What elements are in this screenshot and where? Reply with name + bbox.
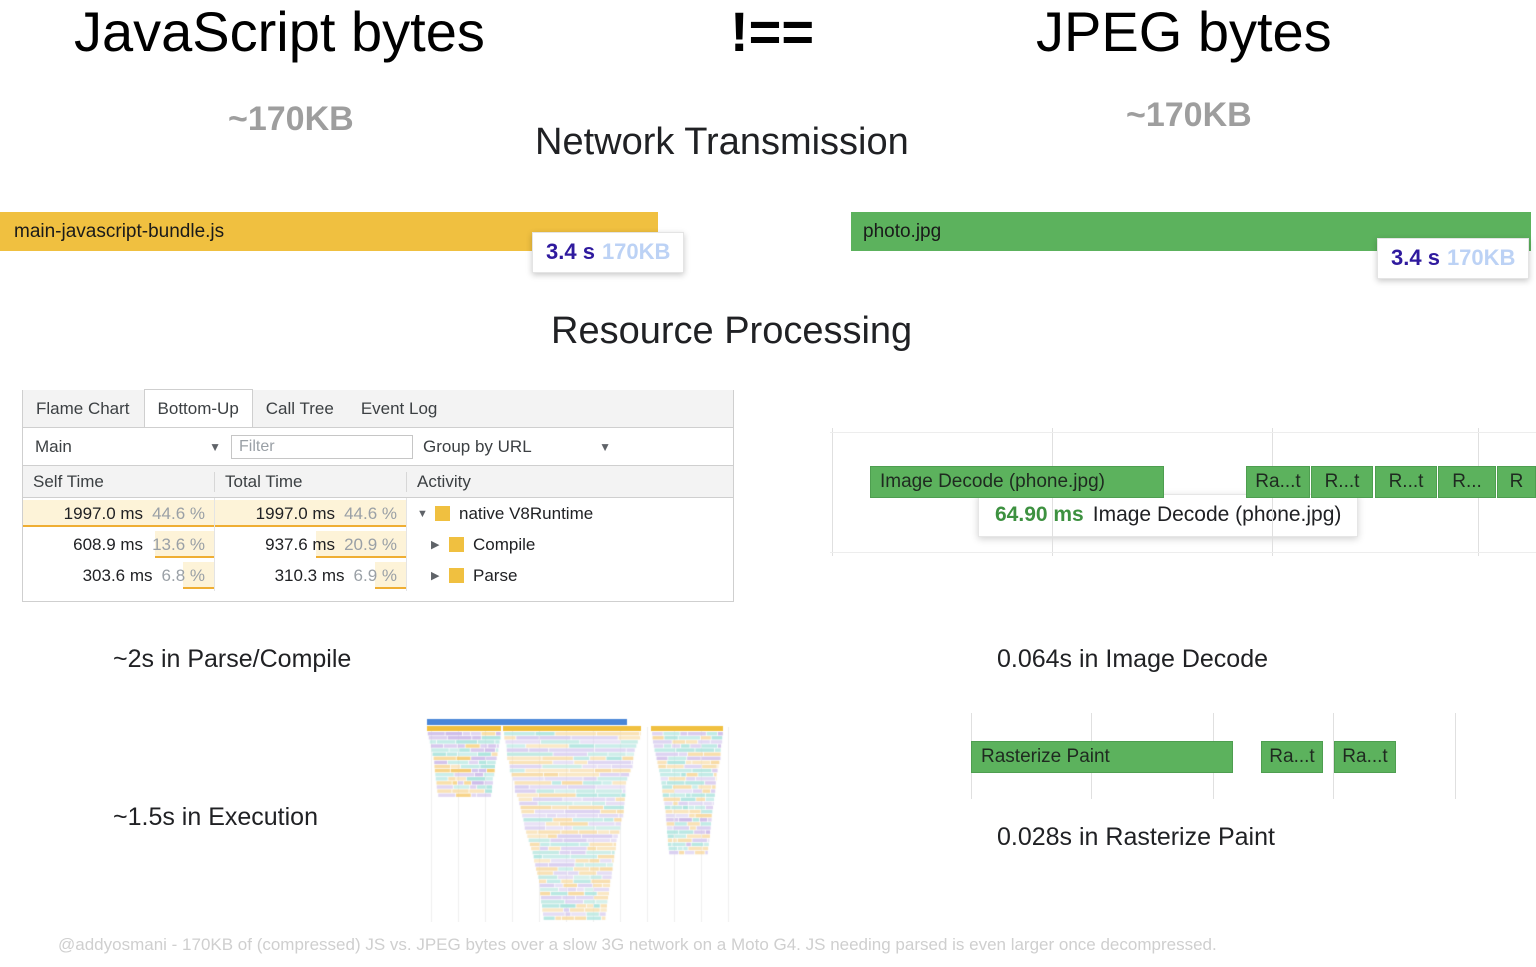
network-bar-javascript-label: main-javascript-bundle.js (14, 221, 224, 243)
color-swatch-icon (449, 537, 464, 552)
network-tooltip-javascript: 3.4 s170KB (532, 232, 684, 273)
devtools-tab-label: Flame Chart (36, 399, 130, 419)
network-tooltip-jpeg: 3.4 s170KB (1377, 238, 1529, 279)
timeline-gridline (1455, 713, 1456, 799)
timeline-bar[interactable]: R (1497, 466, 1536, 498)
network-bar-jpeg-label: photo.jpg (863, 221, 941, 243)
headline-right-text: JPEG bytes (1036, 0, 1332, 64)
devtools-column-headers: Self Time Total Time Activity (23, 466, 733, 498)
cell-total-time: 1997.0 ms44.6 % (215, 498, 407, 529)
footer-caption: @addyosmani - 170KB of (compressed) JS v… (58, 935, 1217, 955)
timeline-image-decode: 64.90 msImage Decode (phone.jpg) Image D… (830, 428, 1536, 556)
cell-total-time: 310.3 ms6.9 % (215, 560, 407, 591)
cell-activity: ▶Compile (407, 535, 733, 555)
timeline-bar[interactable]: R...t (1311, 466, 1373, 498)
filter-input-placeholder: Filter (239, 438, 275, 456)
chevron-right-icon[interactable]: ▶ (431, 538, 447, 551)
timeline-gridline (832, 428, 833, 556)
timeline-bar-label: R...t (1389, 471, 1424, 493)
devtools-tab-bottom-up[interactable]: Bottom-Up (144, 389, 253, 427)
timeline-horizontal-rule (830, 552, 1536, 553)
timeline-bar-label: Ra...t (1255, 471, 1300, 493)
activity-label: Compile (473, 535, 535, 555)
cell-total-time-percent: 44.6 % (344, 504, 397, 524)
headline-left-text: JavaScript bytes (74, 0, 485, 64)
network-tooltip-jpeg-size: 170KB (1447, 245, 1515, 270)
timeline-horizontal-rule (830, 432, 1536, 433)
chevron-down-icon: ▼ (209, 440, 221, 454)
cell-total-time-ms: 1997.0 ms (256, 504, 335, 524)
network-tooltip-javascript-time: 3.4 s (546, 239, 595, 264)
devtools-tab-label: Bottom-Up (158, 399, 239, 419)
section-heading-network: Network Transmission (535, 121, 909, 164)
devtools-tab-label: Call Tree (266, 399, 334, 419)
network-tooltip-javascript-size: 170KB (602, 239, 670, 264)
timeline-bar-label: Ra...t (1269, 746, 1314, 768)
timeline-rasterize-paint: Rasterize PaintRa...tRa...t (963, 713, 1536, 799)
network-tooltip-jpeg-time: 3.4 s (1391, 245, 1440, 270)
column-header-self-time[interactable]: Self Time (23, 472, 215, 492)
cell-self-time-percent: 6.8 % (162, 566, 205, 586)
timeline-bar-label: R...t (1325, 471, 1360, 493)
cell-self-time: 1997.0 ms44.6 % (23, 498, 215, 529)
cell-self-time-ms: 303.6 ms (83, 566, 153, 586)
flame-chart-canvas (423, 717, 733, 922)
group-by-select-value: Group by URL (423, 437, 532, 457)
timeline-bar-label: Rasterize Paint (981, 746, 1110, 768)
size-label-right: ~170KB (1126, 96, 1252, 135)
chevron-down-icon: ▼ (599, 440, 611, 454)
headline: JavaScript bytes !== JPEG bytes (0, 0, 1536, 68)
table-row[interactable]: 608.9 ms13.6 %937.6 ms20.9 %▶Compile (23, 529, 733, 560)
cell-total-time-ms: 310.3 ms (275, 566, 345, 586)
devtools-rows: 1997.0 ms44.6 %1997.0 ms44.6 %▼native V8… (23, 498, 733, 591)
timeline-bar[interactable]: Image Decode (phone.jpg) (870, 466, 1164, 498)
section-heading-processing: Resource Processing (551, 310, 912, 353)
timeline-bar-label: Image Decode (phone.jpg) (880, 471, 1105, 493)
timeline-bar[interactable]: Ra...t (1261, 741, 1323, 773)
filter-input[interactable]: Filter (231, 435, 413, 459)
devtools-tab-event-log[interactable]: Event Log (348, 390, 452, 427)
devtools-tab-label: Event Log (361, 399, 438, 419)
timeline-bar-label: Ra...t (1342, 746, 1387, 768)
timeline-decode-tooltip-name: Image Decode (phone.jpg) (1093, 503, 1342, 526)
cell-self-time: 608.9 ms13.6 % (23, 529, 215, 560)
flame-chart-thumbnail (423, 717, 733, 922)
activity-label: native V8Runtime (459, 504, 593, 524)
headline-operator: !== (730, 0, 814, 64)
column-header-activity[interactable]: Activity (407, 472, 733, 492)
devtools-tabstrip: Flame ChartBottom-UpCall TreeEvent Log (23, 390, 733, 428)
cell-self-time-ms: 1997.0 ms (64, 504, 143, 524)
group-by-select[interactable]: Group by URL ▼ (423, 437, 623, 457)
cell-total-time-percent: 20.9 % (344, 535, 397, 555)
timeline-bar-label: R (1510, 471, 1524, 493)
timeline-decode-tooltip: 64.90 msImage Decode (phone.jpg) (978, 494, 1358, 537)
cell-activity: ▶Parse (407, 566, 733, 586)
table-row[interactable]: 303.6 ms6.8 %310.3 ms6.9 %▶Parse (23, 560, 733, 591)
cell-self-time-ms: 608.9 ms (73, 535, 143, 555)
cell-self-time-percent: 44.6 % (152, 504, 205, 524)
cell-activity: ▼native V8Runtime (407, 504, 733, 524)
table-row[interactable]: 1997.0 ms44.6 %1997.0 ms44.6 %▼native V8… (23, 498, 733, 529)
main-thread-select[interactable]: Main ▼ (23, 437, 231, 457)
timeline-decode-tooltip-ms: 64.90 ms (995, 503, 1084, 526)
devtools-toolbar: Main ▼ Filter Group by URL ▼ (23, 428, 733, 466)
color-swatch-icon (435, 506, 450, 521)
note-parse-compile: ~2s in Parse/Compile (113, 645, 351, 674)
chevron-right-icon[interactable]: ▶ (431, 569, 447, 582)
column-header-total-time[interactable]: Total Time (215, 472, 407, 492)
devtools-tab-call-tree[interactable]: Call Tree (253, 390, 348, 427)
cell-self-time-percent: 13.6 % (152, 535, 205, 555)
note-rasterize-paint: 0.028s in Rasterize Paint (997, 823, 1275, 852)
note-image-decode: 0.064s in Image Decode (997, 645, 1268, 674)
color-swatch-icon (449, 568, 464, 583)
devtools-bottom-up-panel: Flame ChartBottom-UpCall TreeEvent Log M… (22, 390, 734, 602)
timeline-bar[interactable]: Ra...t (1246, 466, 1310, 498)
main-thread-select-value: Main (35, 437, 72, 457)
timeline-bar-label: R... (1452, 471, 1482, 493)
timeline-bar[interactable]: Ra...t (1334, 741, 1396, 773)
cell-self-time: 303.6 ms6.8 % (23, 560, 215, 591)
timeline-bar[interactable]: Rasterize Paint (971, 741, 1233, 773)
activity-label: Parse (473, 566, 517, 586)
note-execution: ~1.5s in Execution (113, 803, 318, 832)
devtools-tab-flame-chart[interactable]: Flame Chart (23, 390, 144, 427)
timeline-bar[interactable]: R... (1438, 466, 1496, 498)
cell-total-time-ms: 937.6 ms (265, 535, 335, 555)
size-label-left: ~170KB (228, 100, 354, 139)
timeline-bar[interactable]: R...t (1375, 466, 1437, 498)
cell-total-time: 937.6 ms20.9 % (215, 529, 407, 560)
cell-total-time-percent: 6.9 % (354, 566, 397, 586)
chevron-down-icon[interactable]: ▼ (417, 508, 433, 520)
